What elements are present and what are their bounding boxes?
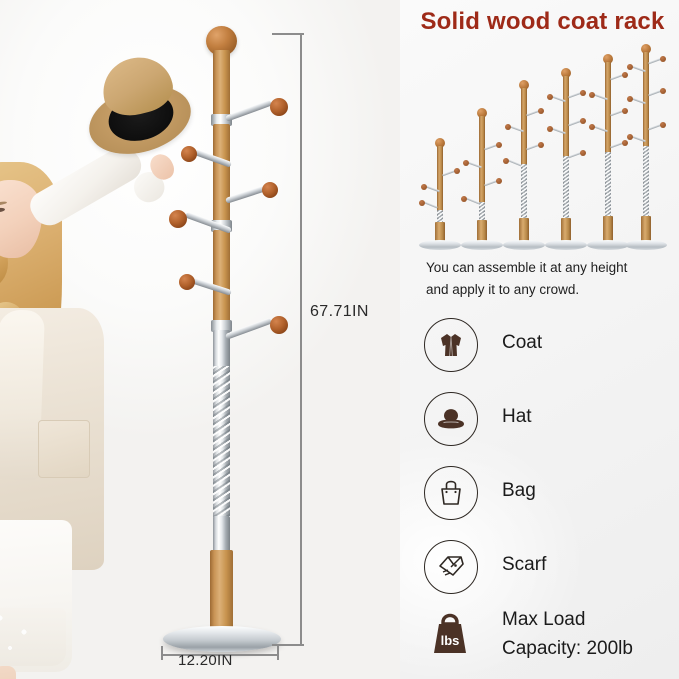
pole-segment-chrome bbox=[213, 516, 230, 554]
hook bbox=[226, 104, 288, 134]
pole-wood bbox=[437, 146, 443, 212]
base-disc bbox=[461, 240, 503, 250]
hook-ball bbox=[660, 56, 666, 62]
coat-rack-product bbox=[150, 26, 310, 666]
hook-arm bbox=[225, 100, 272, 122]
rack-variant-2 bbox=[460, 108, 504, 250]
width-dimension-label: 12.20IN bbox=[178, 652, 233, 669]
pole-wood bbox=[563, 76, 569, 158]
hook-ball bbox=[503, 158, 509, 164]
hook-ball bbox=[421, 184, 427, 190]
coat-pocket bbox=[38, 420, 90, 478]
feature-label: Scarf bbox=[502, 552, 546, 578]
feature-label: Hat bbox=[502, 404, 532, 430]
pole-wood bbox=[479, 116, 485, 204]
assembly-note-line-2: and apply it to any crowd. bbox=[426, 279, 676, 301]
base-disc bbox=[545, 240, 587, 250]
hook-ball-tip bbox=[270, 98, 288, 116]
info-panel: Solid wood coat rack bbox=[400, 0, 679, 679]
pole-twisted bbox=[521, 164, 527, 226]
chrome-base-disc bbox=[163, 626, 281, 652]
hook-ball-tip bbox=[262, 182, 278, 198]
model-figure bbox=[0, 120, 168, 679]
leg bbox=[0, 666, 16, 679]
pole-wood bbox=[605, 62, 611, 154]
hook bbox=[169, 150, 231, 180]
base-disc bbox=[625, 240, 667, 250]
hook-ball bbox=[461, 196, 467, 202]
pole-wood bbox=[643, 52, 649, 148]
hook-ball-tip bbox=[169, 210, 187, 228]
dimension-tick-left bbox=[161, 646, 163, 660]
feature-bag: Bag bbox=[424, 466, 676, 528]
product-infographic: 67.71IN 12.20IN Solid wood coat rack bbox=[0, 0, 679, 679]
hook-ball bbox=[627, 96, 633, 102]
base-disc bbox=[419, 240, 461, 250]
hat-icon bbox=[424, 392, 478, 446]
dimension-tick-right bbox=[277, 646, 279, 660]
hook-ball bbox=[419, 200, 425, 206]
hook-ball-tip bbox=[179, 274, 195, 290]
assembly-note: You can assemble it at any height and ap… bbox=[426, 257, 676, 301]
hook-arm bbox=[185, 212, 232, 234]
hook bbox=[466, 197, 480, 204]
bag-glyph bbox=[435, 477, 467, 509]
hook-ball bbox=[589, 92, 595, 98]
pole-segment-twisted-chrome bbox=[213, 366, 230, 518]
scarf-glyph bbox=[434, 550, 468, 584]
rack-variant-6 bbox=[624, 44, 668, 250]
pole-twisted bbox=[563, 156, 569, 226]
rack-variant-4 bbox=[544, 68, 588, 250]
dimension-line-height bbox=[300, 33, 302, 646]
hook-arm bbox=[194, 149, 232, 168]
hook bbox=[424, 201, 438, 208]
feature-label: Bag bbox=[502, 478, 536, 504]
hat-glyph bbox=[434, 402, 468, 436]
bag-icon bbox=[424, 466, 478, 520]
hook-ball-tip bbox=[181, 146, 197, 162]
page-title: Solid wood coat rack bbox=[406, 8, 679, 36]
lifestyle-photo-panel: 67.71IN 12.20IN bbox=[0, 0, 400, 679]
hook bbox=[226, 186, 288, 216]
weight-lbs-icon: lbs bbox=[424, 608, 476, 660]
max-load-line-2: Capacity: 200lb bbox=[502, 635, 633, 664]
hook-ball bbox=[505, 124, 511, 130]
hook-ball bbox=[547, 94, 553, 100]
weight-glyph: lbs bbox=[424, 608, 476, 660]
hook-ball bbox=[589, 124, 595, 130]
pole-twisted bbox=[605, 152, 611, 226]
hook-ball bbox=[547, 126, 553, 132]
rack-variant-1 bbox=[418, 138, 462, 250]
feature-label: Coat bbox=[502, 330, 542, 356]
hook bbox=[226, 322, 288, 352]
max-load-text: Max Load Capacity: 200lb bbox=[502, 606, 633, 664]
rack-variant-3 bbox=[502, 80, 546, 250]
hook-ball bbox=[660, 88, 666, 94]
hook-arm bbox=[192, 278, 232, 296]
hook-ball-tip bbox=[270, 316, 288, 334]
base-disc bbox=[587, 240, 629, 250]
hook bbox=[169, 278, 231, 308]
hook bbox=[508, 159, 522, 166]
max-load-line-1: Max Load bbox=[502, 606, 633, 635]
scarf-icon bbox=[424, 540, 478, 594]
feature-scarf: Scarf bbox=[424, 540, 676, 602]
base-disc bbox=[503, 240, 545, 250]
hook-ball bbox=[660, 122, 666, 128]
feature-hat: Hat bbox=[424, 392, 676, 454]
hook-ball bbox=[627, 134, 633, 140]
coat-icon bbox=[424, 318, 478, 372]
hook-arm bbox=[225, 186, 265, 204]
pole-twisted bbox=[643, 146, 649, 226]
coat-glyph bbox=[435, 329, 467, 361]
hook-arm bbox=[225, 318, 272, 340]
hook bbox=[169, 216, 231, 246]
hook-ball bbox=[627, 64, 633, 70]
feature-coat: Coat bbox=[424, 318, 676, 380]
hook-ball bbox=[463, 160, 469, 166]
assembly-note-line-1: You can assemble it at any height bbox=[426, 257, 676, 279]
pole-wood bbox=[521, 88, 527, 166]
height-dimension-label: 67.71IN bbox=[310, 303, 369, 321]
weight-icon-text: lbs bbox=[441, 633, 460, 648]
height-variants-row bbox=[418, 50, 668, 250]
lace-hem bbox=[0, 608, 66, 666]
